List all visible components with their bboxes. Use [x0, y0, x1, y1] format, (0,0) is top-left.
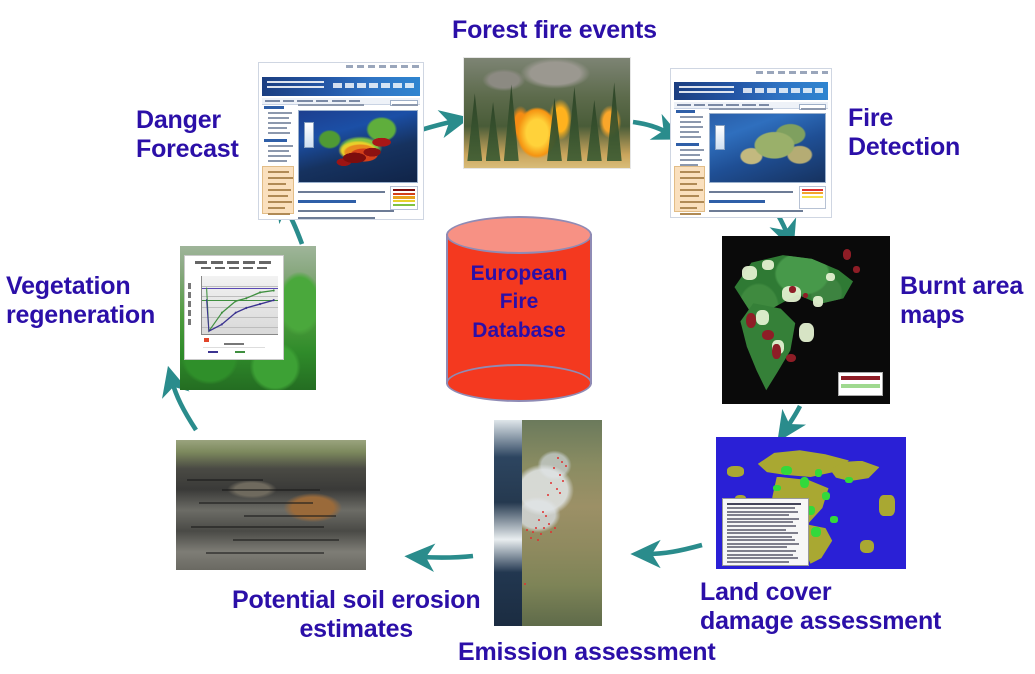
map-scale-control[interactable] — [304, 122, 314, 148]
chart-title — [195, 261, 273, 264]
label-danger-forecast: Danger Forecast — [136, 106, 239, 163]
chart-subtitle — [201, 267, 268, 269]
arrow-emission-to-erosion — [420, 556, 473, 558]
arrow-fire-to-detection — [633, 122, 669, 133]
top-links — [346, 65, 420, 68]
vegetation-regeneration-image[interactable] — [180, 246, 316, 390]
sidebar-orange-panel[interactable] — [674, 166, 705, 212]
emission-satellite-image[interactable] — [494, 420, 602, 626]
label-forest-fire-events: Forest fire events — [452, 16, 657, 45]
label-burnt-area-maps: Burnt area maps — [900, 272, 1023, 329]
chart-xlabel — [224, 343, 244, 345]
chart-legend — [203, 347, 266, 356]
burnt-area-map-image[interactable] — [722, 236, 890, 404]
soil-erosion-photo[interactable] — [176, 440, 366, 570]
central-database-label: European Fire Database — [446, 260, 592, 345]
browser-top-strip — [671, 69, 831, 82]
effis-title — [333, 83, 415, 89]
land-cover-statistics-table — [722, 498, 809, 567]
arrow-landcover-to-emission — [646, 545, 702, 554]
central-database-cylinder: European Fire Database — [446, 216, 592, 402]
breadcrumb — [709, 108, 773, 110]
jrc-banner — [262, 77, 419, 96]
date-stamp — [801, 108, 827, 110]
label-land-cover-damage: Land cover damage assessment — [700, 578, 941, 635]
regeneration-chart[interactable] — [184, 255, 284, 361]
fire-danger-map[interactable] — [298, 110, 418, 183]
burnt-area-legend — [838, 372, 884, 396]
top-links — [756, 71, 828, 74]
diagram-canvas: European Fire Database — [0, 0, 1035, 674]
date-stamp — [392, 104, 418, 106]
jrc-banner — [674, 82, 828, 100]
chart-plot-area — [201, 276, 278, 335]
chart-ylabel — [188, 283, 191, 329]
cylinder-bottom — [446, 364, 592, 402]
browser-top-strip — [259, 63, 423, 77]
map-scale-control[interactable] — [715, 125, 725, 150]
arrow-detection-to-burnt — [778, 215, 788, 236]
land-cover-map-image[interactable] — [716, 437, 906, 569]
label-fire-detection: Fire Detection — [848, 104, 960, 161]
forest-fire-photo[interactable] — [464, 58, 630, 168]
left-sidebar[interactable] — [262, 106, 295, 216]
chart-x-highlight — [204, 338, 209, 342]
fire-detection-screenshot[interactable] — [670, 68, 832, 218]
jrc-logo — [679, 86, 734, 94]
sidebar-orange-panel[interactable] — [262, 166, 294, 214]
active-fire-map[interactable] — [709, 113, 826, 183]
danger-forecast-screenshot[interactable] — [258, 62, 424, 220]
cylinder-top — [446, 216, 592, 254]
jrc-logo — [267, 81, 324, 90]
left-sidebar[interactable] — [674, 110, 706, 214]
label-vegetation-regeneration: Vegetation regeneration — [6, 272, 155, 329]
effis-title — [743, 88, 823, 93]
chart-series-lines — [202, 276, 278, 334]
label-potential-soil-erosion: Potential soil erosion estimates — [232, 586, 480, 643]
breadcrumb — [298, 104, 364, 106]
arrow-burnt-to-landcover — [786, 406, 800, 429]
map-legend — [799, 186, 827, 209]
label-emission-assessment: Emission assessment — [458, 638, 715, 667]
map-legend — [390, 186, 418, 210]
